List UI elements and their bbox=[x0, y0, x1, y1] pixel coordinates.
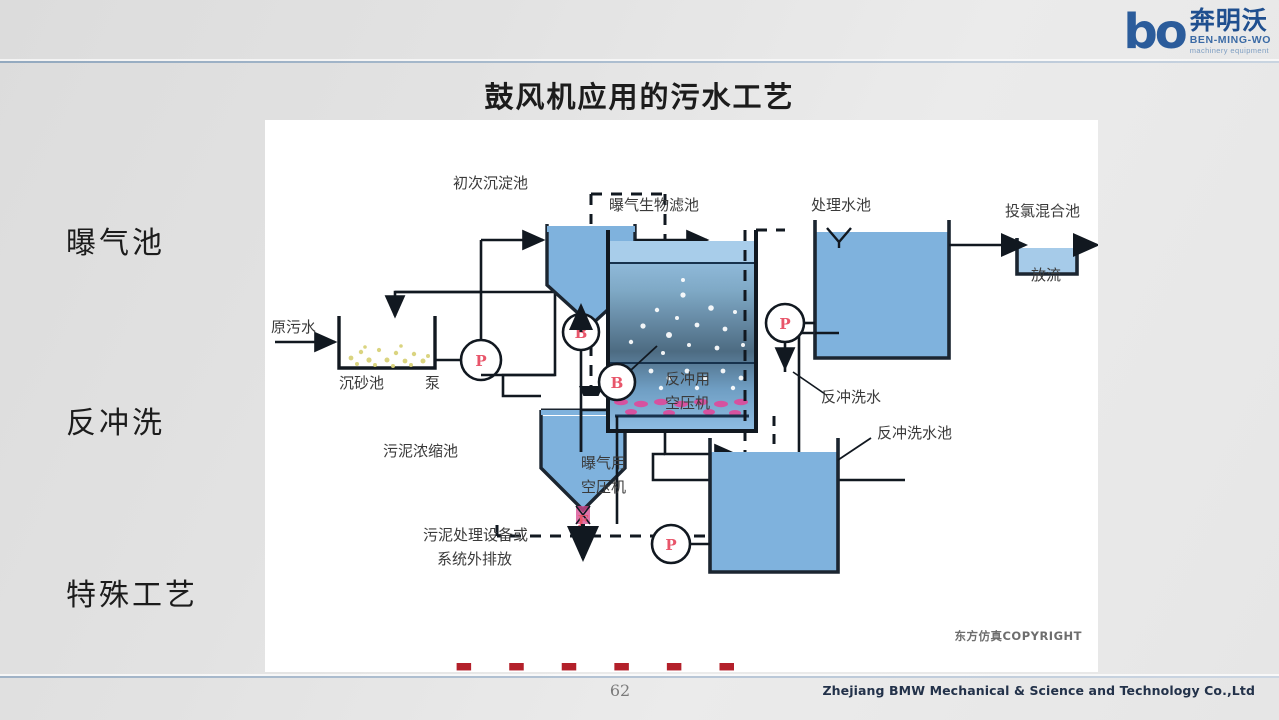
label-backwash-water: 反冲洗水 bbox=[821, 388, 881, 406]
diagram-watermark: 东方仿真COPYRIGHT bbox=[954, 628, 1082, 644]
label-grit-chamber: 沉砂池 bbox=[339, 374, 384, 392]
logo-tagline: machinery equipment bbox=[1190, 46, 1269, 55]
backwash-water-tank bbox=[690, 416, 871, 572]
label-sludge-disposal-line2: 系统外排放 bbox=[437, 550, 512, 568]
logo-name-cn: 奔明沃 bbox=[1190, 9, 1268, 34]
label-backwash-water-tank: 反冲洗水池 bbox=[877, 424, 952, 442]
label-sludge-thickener: 污泥浓缩池 bbox=[383, 442, 458, 460]
label-biofilter: 曝气生物滤池 bbox=[609, 196, 699, 214]
backwash-tank-pump: P bbox=[652, 525, 690, 563]
label-primary-settler: 初次沉淀池 bbox=[453, 174, 528, 192]
label-backwash-compressor-line2: 空压机 bbox=[665, 394, 710, 412]
label-treated-water-tank: 处理水池 bbox=[811, 196, 871, 214]
label-aeration-compressor-line1: 曝气用 bbox=[581, 454, 626, 472]
sludge-outlet-valve: F bbox=[576, 506, 590, 558]
grit-chamber-vessel bbox=[339, 316, 435, 368]
company-footer-text: Zhejiang BMW Mechanical & Science and Te… bbox=[823, 683, 1255, 698]
label-aeration-compressor-line2: 空压机 bbox=[581, 478, 626, 496]
diagram-clipped-red-text: ■ ■ ■ ■ ■ ■ bbox=[455, 663, 875, 672]
footer-divider bbox=[0, 676, 1279, 678]
label-raw-sewage: 原污水 bbox=[271, 318, 316, 336]
backwash-pump-text: P bbox=[779, 315, 790, 333]
side-label-special-process: 特殊工艺 bbox=[66, 570, 198, 614]
logo-mark: bo bbox=[1123, 12, 1184, 52]
label-discharge: 放流 bbox=[1031, 266, 1061, 284]
label-backwash-compressor-line1: 反冲用 bbox=[665, 370, 710, 388]
treated-water-tank bbox=[815, 220, 1011, 358]
backwash-blower-text: B bbox=[611, 374, 624, 392]
page-number: 62 bbox=[600, 681, 640, 700]
backwash-tank-pump-text: P bbox=[665, 536, 676, 554]
pump-symbol-raw: P bbox=[435, 240, 543, 380]
label-chlorine-mixing-tank: 投氯混合池 bbox=[1005, 202, 1080, 220]
side-label-aeration-tank: 曝气池 bbox=[66, 218, 165, 262]
process-flow-diagram: P F bbox=[265, 120, 1098, 672]
page-title: 鼓风机应用的污水工艺 bbox=[0, 74, 1279, 116]
pump-symbol-text: P bbox=[475, 352, 486, 370]
side-label-backwash: 反冲洗 bbox=[66, 398, 165, 442]
label-pump: 泵 bbox=[425, 374, 440, 392]
header-divider bbox=[0, 61, 1279, 63]
label-sludge-disposal-line1: 污泥处理设备或 bbox=[423, 526, 528, 544]
company-logo: bo 奔明沃 BEN-MING-WO machinery equipment bbox=[1095, 4, 1271, 60]
logo-name-en: BEN-MING-WO bbox=[1190, 34, 1271, 46]
